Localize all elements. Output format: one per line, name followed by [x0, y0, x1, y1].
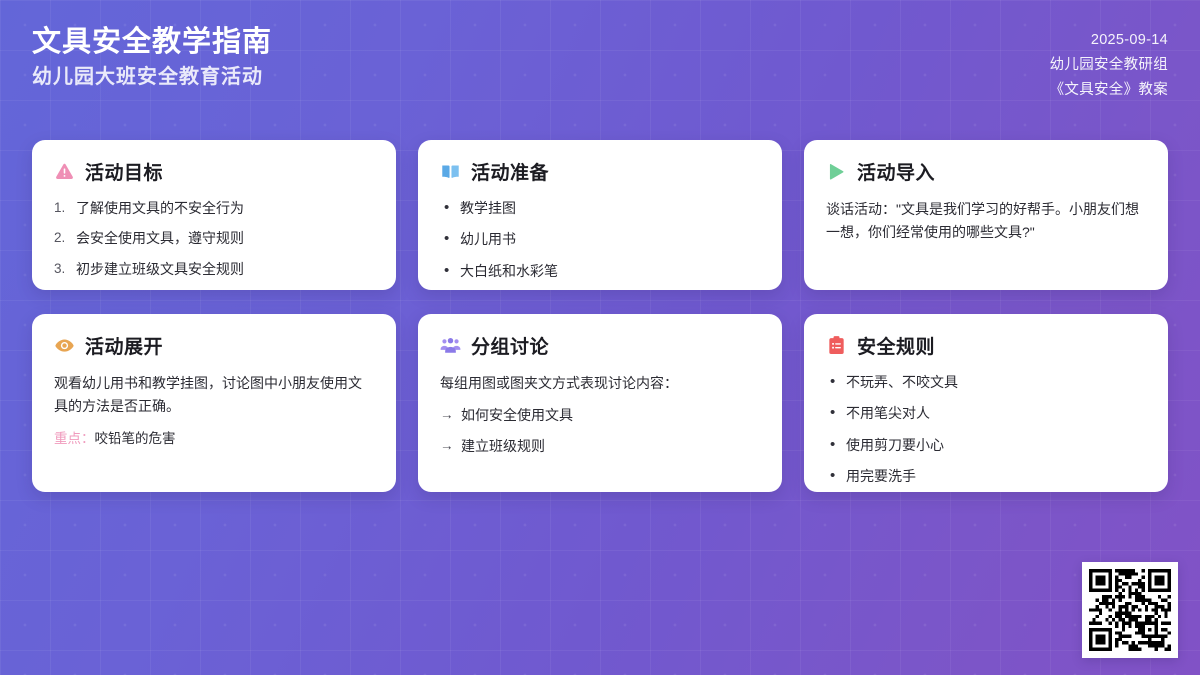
card-title: 分组讨论 [471, 332, 549, 359]
card-title: 活动导入 [857, 158, 935, 185]
warning-triangle-icon [54, 161, 75, 182]
card-development: 活动展开 观看幼儿用书和教学挂图，讨论图中小朋友使用文具的方法是否正确。 重点：… [32, 314, 396, 492]
list-item: 大白纸和水彩笔 [440, 261, 760, 281]
objectives-list: 了解使用文具的不安全行为 会安全使用文具，遵守规则 初步建立班级文具安全规则 [54, 198, 374, 279]
meta-date: 2025-09-14 [1050, 30, 1168, 51]
list-item: 不玩弄、不咬文具 [826, 372, 1146, 392]
clipboard-icon [826, 335, 847, 356]
card-title: 活动准备 [471, 158, 549, 185]
slide-header: 文具安全教学指南 幼儿园大班安全教育活动 2025-09-14 幼儿园安全教研组… [0, 0, 1200, 128]
qr-code-container[interactable] [1082, 562, 1178, 658]
card-title: 安全规则 [857, 332, 935, 359]
page-subtitle: 幼儿园大班安全教育活动 [32, 65, 272, 89]
group-discussion-lead: 每组用图或图夹文方式表现讨论内容： [440, 372, 760, 395]
highlight-label: 重点： [54, 431, 95, 446]
page-title: 文具安全教学指南 [32, 26, 272, 59]
card-header: 活动目标 [54, 158, 374, 185]
header-meta: 2025-09-14 幼儿园安全教研组 《文具安全》教案 [1050, 26, 1168, 101]
introduction-body: 谈话活动："文具是我们学习的好帮手。小朋友们想一想，你们经常使用的哪些文具?" [826, 198, 1146, 243]
list-item: 建立班级规则 [440, 436, 760, 456]
highlight-value: 咬铅笔的危害 [95, 431, 176, 446]
title-block: 文具安全教学指南 幼儿园大班安全教育活动 [32, 26, 272, 89]
list-item: 用完要洗手 [826, 466, 1146, 486]
card-preparation: 活动准备 教学挂图 幼儿用书 大白纸和水彩笔 [418, 140, 782, 290]
list-item: 使用剪刀要小心 [826, 435, 1146, 455]
preparation-list: 教学挂图 幼儿用书 大白纸和水彩笔 [440, 198, 760, 281]
development-body: 观看幼儿用书和教学挂图，讨论图中小朋友使用文具的方法是否正确。 [54, 372, 374, 417]
group-people-icon [440, 335, 461, 356]
list-item: 了解使用文具的不安全行为 [54, 198, 374, 218]
meta-organization: 幼儿园安全教研组 [1050, 55, 1168, 76]
card-group-discussion: 分组讨论 每组用图或图夹文方式表现讨论内容： 如何安全使用文具 建立班级规则 [418, 314, 782, 492]
eye-icon [54, 335, 75, 356]
play-triangle-icon [826, 161, 847, 182]
list-item: 会安全使用文具，遵守规则 [54, 228, 374, 248]
meta-document: 《文具安全》教案 [1050, 80, 1168, 101]
card-header: 活动展开 [54, 332, 374, 359]
slide-root: 文具安全教学指南 幼儿园大班安全教育活动 2025-09-14 幼儿园安全教研组… [0, 0, 1200, 675]
card-header: 分组讨论 [440, 332, 760, 359]
list-item: 初步建立班级文具安全规则 [54, 259, 374, 279]
card-grid: 活动目标 了解使用文具的不安全行为 会安全使用文具，遵守规则 初步建立班级文具安… [32, 140, 1168, 492]
safety-rules-list: 不玩弄、不咬文具 不用笔尖对人 使用剪刀要小心 用完要洗手 [826, 372, 1146, 486]
development-highlight: 重点：咬铅笔的危害 [54, 429, 374, 449]
list-item: 教学挂图 [440, 198, 760, 218]
card-introduction: 活动导入 谈话活动："文具是我们学习的好帮手。小朋友们想一想，你们经常使用的哪些… [804, 140, 1168, 290]
card-safety-rules: 安全规则 不玩弄、不咬文具 不用笔尖对人 使用剪刀要小心 用完要洗手 [804, 314, 1168, 492]
group-discussion-list: 如何安全使用文具 建立班级规则 [440, 405, 760, 457]
card-title: 活动目标 [85, 158, 163, 185]
card-title: 活动展开 [85, 332, 163, 359]
card-header: 安全规则 [826, 332, 1146, 359]
list-item: 如何安全使用文具 [440, 405, 760, 425]
list-item: 不用笔尖对人 [826, 403, 1146, 423]
qr-code [1089, 569, 1171, 651]
list-item: 幼儿用书 [440, 229, 760, 249]
open-book-icon [440, 161, 461, 182]
card-header: 活动导入 [826, 158, 1146, 185]
card-header: 活动准备 [440, 158, 760, 185]
card-objectives: 活动目标 了解使用文具的不安全行为 会安全使用文具，遵守规则 初步建立班级文具安… [32, 140, 396, 290]
